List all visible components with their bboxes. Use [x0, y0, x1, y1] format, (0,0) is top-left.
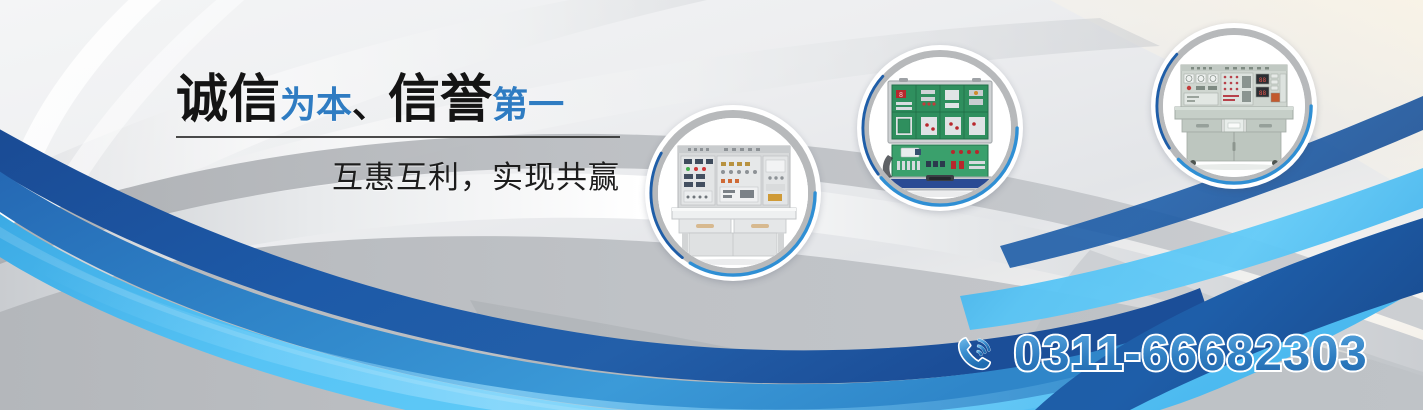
test-bench-illustration: 88 88 — [1163, 35, 1305, 177]
training-case-illustration: 8 — [869, 57, 1011, 199]
product-photo-1 — [658, 118, 808, 268]
page-title: 诚信为本、信誉第一 — [176, 74, 620, 126]
headline-part-2: 为本 — [280, 84, 352, 125]
product-circle-1[interactable] — [645, 105, 821, 281]
product-circle-3[interactable]: 88 88 — [1151, 23, 1317, 189]
workbench-illustration — [658, 118, 808, 268]
phone-icon — [952, 330, 1000, 378]
headline-part-3: 信誉 — [388, 71, 492, 129]
promo-banner: 诚信为本、信誉第一 互惠互利，实现共赢 — [0, 0, 1423, 410]
headline-part-4: 第一 — [492, 84, 564, 125]
subtitle: 互惠互利，实现共赢 — [176, 152, 620, 197]
contact-block[interactable]: 0311-66682303 0311-66682303 — [952, 326, 1368, 382]
product-circle-2[interactable]: 8 — [857, 45, 1023, 211]
product-photo-3: 88 88 — [1163, 35, 1305, 177]
svg-text:88: 88 — [1259, 90, 1267, 97]
headline-part-1: 诚信 — [176, 71, 280, 129]
headline-separator: 、 — [352, 84, 388, 125]
product-photo-2: 8 — [869, 57, 1011, 199]
slogan-block: 诚信为本、信誉第一 互惠互利，实现共赢 — [176, 74, 620, 197]
phone-number[interactable]: 0311-66682303 — [1014, 326, 1368, 382]
svg-text:88: 88 — [1259, 77, 1267, 84]
svg-text:8: 8 — [899, 91, 903, 99]
title-divider — [176, 136, 620, 138]
